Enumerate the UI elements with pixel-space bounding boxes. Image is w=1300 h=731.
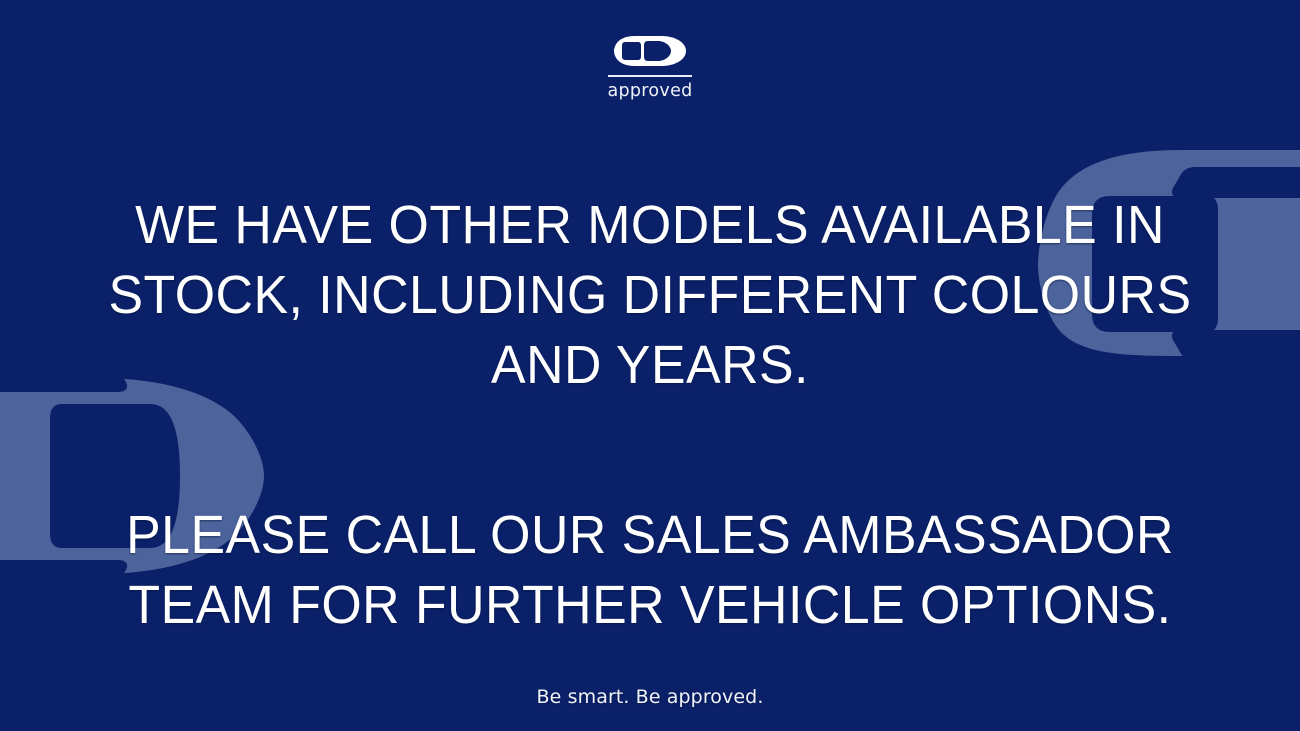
headline-paragraph-2: PLEASE CALL OUR SALES AMBASSADOR TEAM FO… — [26, 500, 1274, 640]
brand-logo: approved — [0, 34, 1300, 101]
headline-paragraph-1: WE HAVE OTHER MODELS AVAILABLE IN STOCK,… — [26, 190, 1274, 400]
logo-divider — [608, 75, 692, 77]
tagline: Be smart. Be approved. — [0, 686, 1300, 708]
message-block: WE HAVE OTHER MODELS AVAILABLE IN STOCK,… — [0, 190, 1300, 708]
logo-wordmark: approved — [607, 81, 692, 101]
promo-slide: approved WE HAVE OTHER MODELS AVAILABLE … — [0, 0, 1300, 731]
approved-car-top-view-icon — [613, 34, 687, 68]
